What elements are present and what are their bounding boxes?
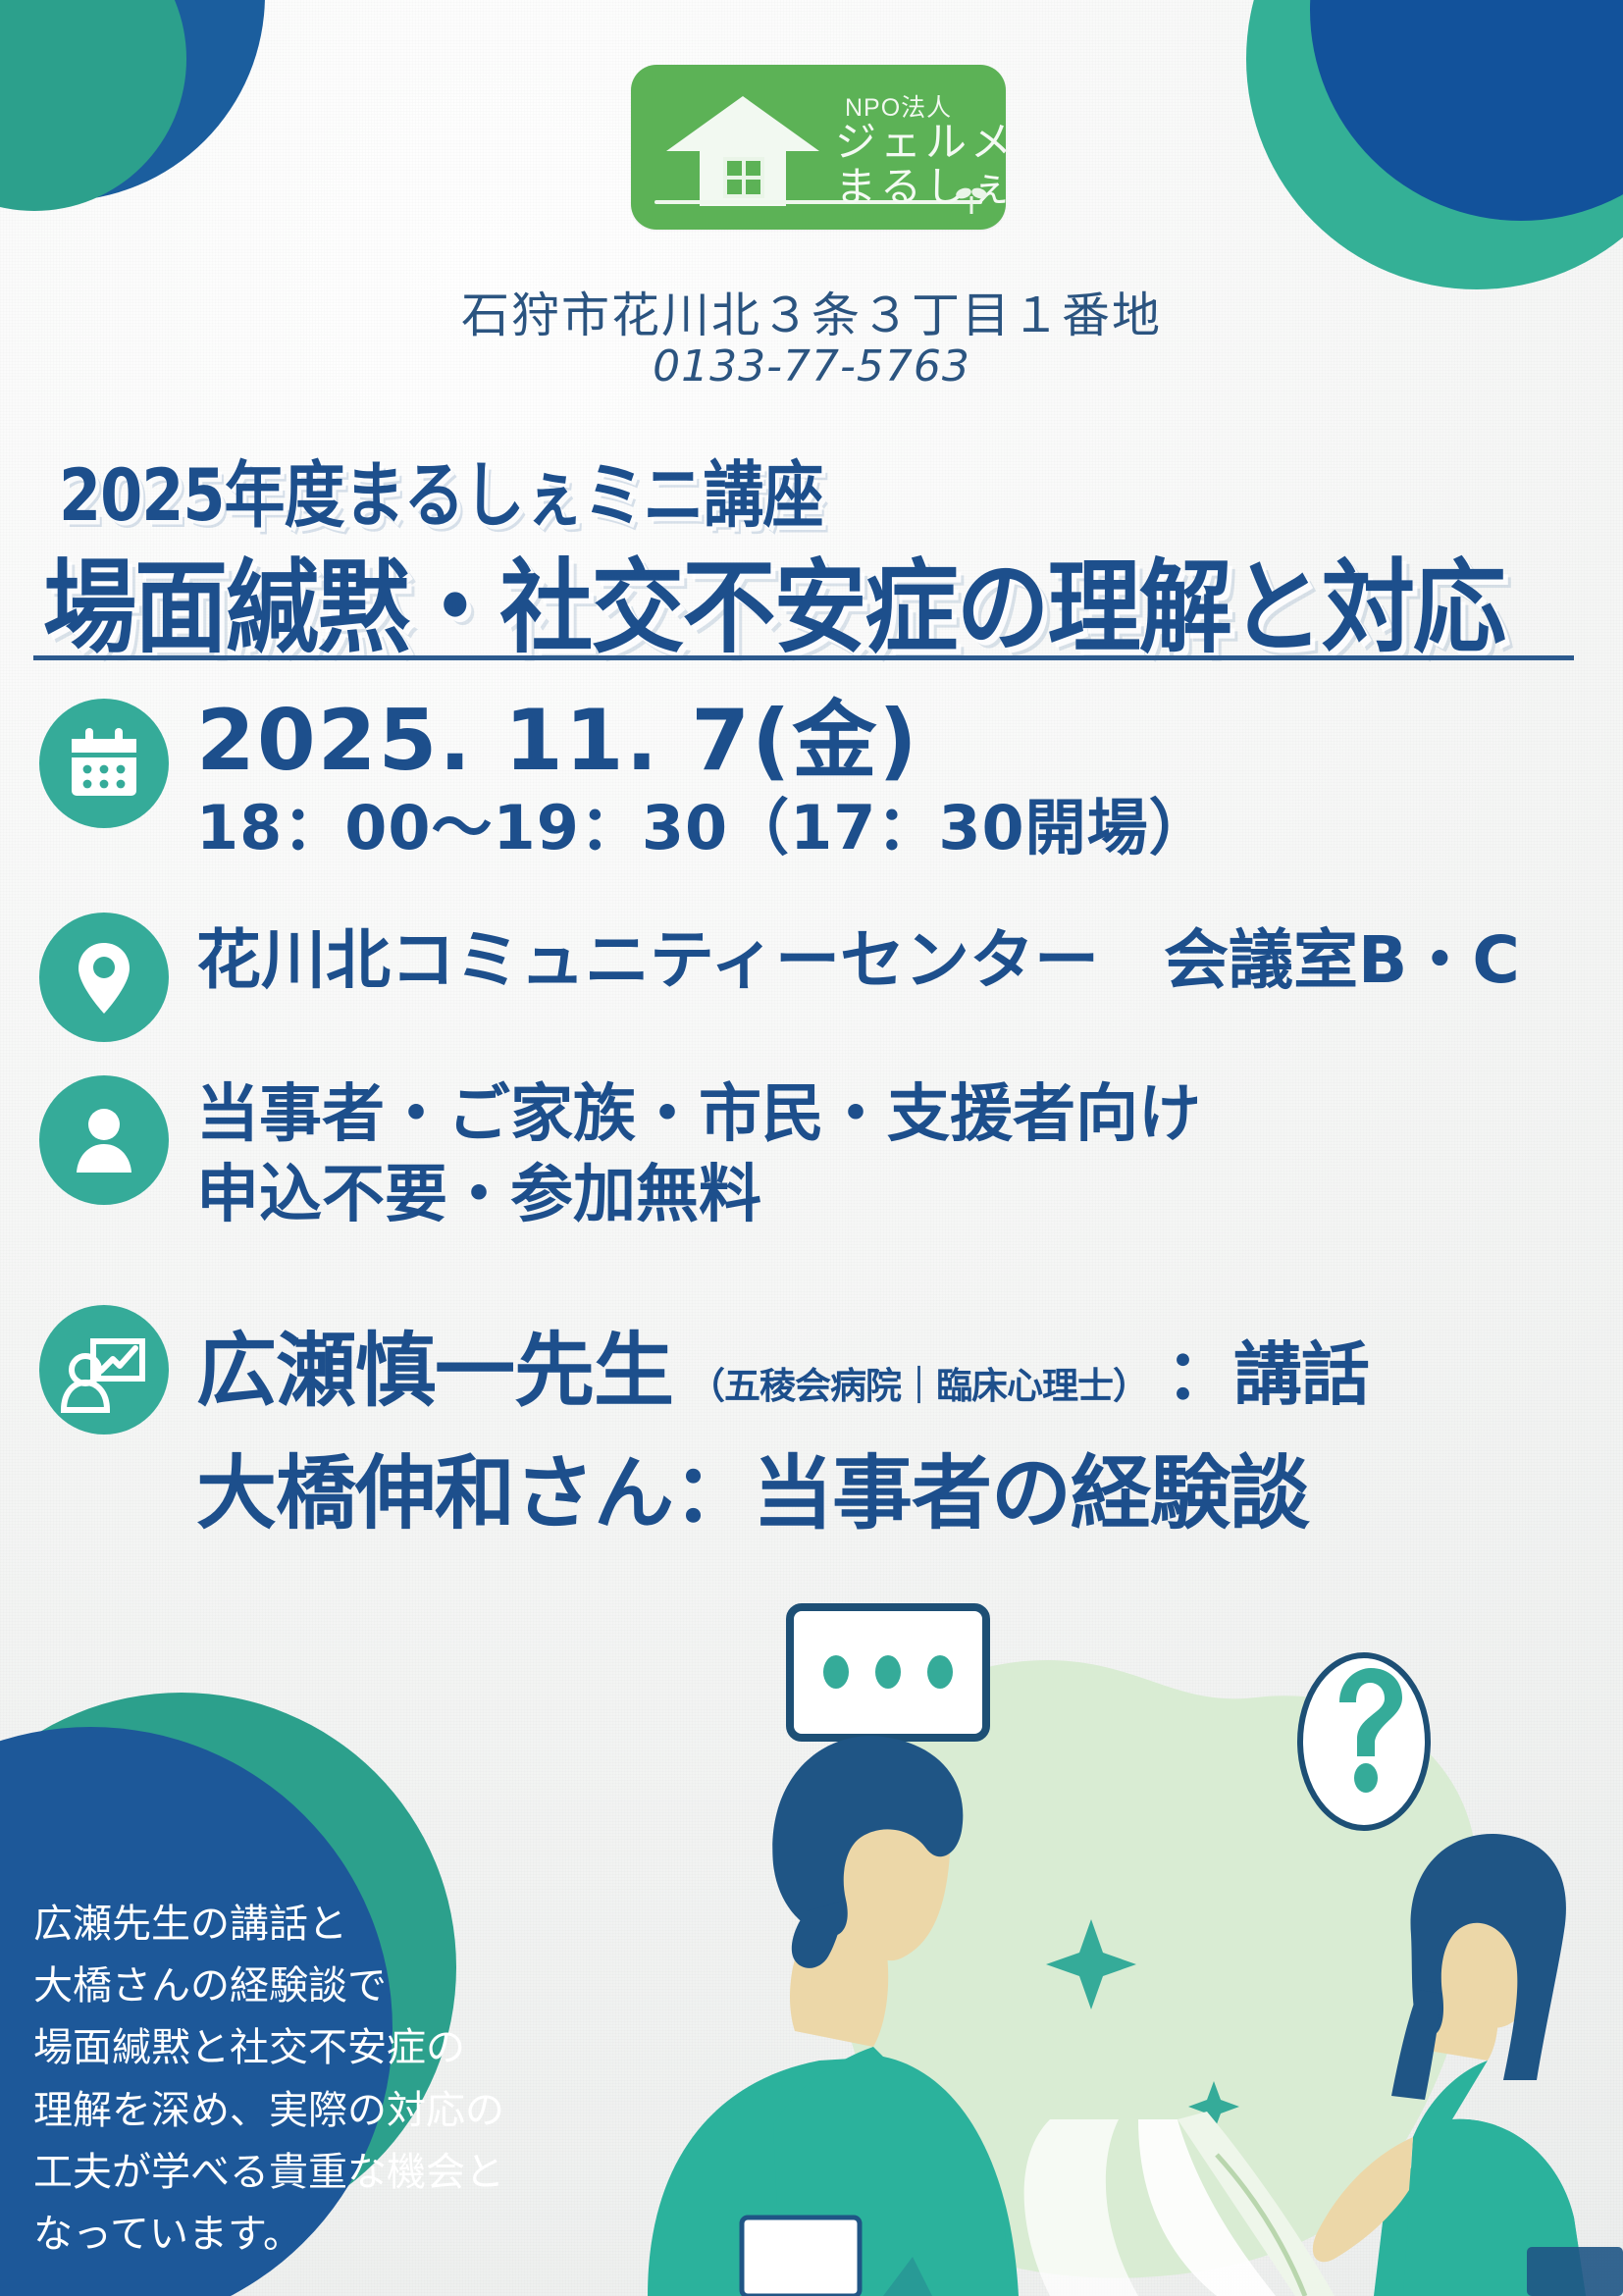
page-title: 場面緘黙・社交不安症の理解と対応 — [43, 525, 1504, 672]
organization-logo: NPO法人 ジェルメ まるしぇ — [631, 65, 1006, 230]
speaker-line2: 大橋伸和さん：当事者の経験談 — [196, 1428, 1369, 1544]
event-audience-text: 当事者・ご家族・市民・支援者向け 申込不要・参加無料 — [196, 1075, 1201, 1236]
event-audience-row: 当事者・ご家族・市民・支援者向け 申込不要・参加無料 — [39, 1075, 1201, 1236]
map-pin-icon-badge — [39, 913, 169, 1042]
event-speaker-row: 広瀬慎一先生 （五稜会病院｜臨床心理士） ：講話 大橋伸和さん：当事者の経験談 — [39, 1305, 1369, 1544]
audience-line2: 申込不要・参加無料 — [196, 1156, 1201, 1236]
event-place-text: 花川北コミュニティーセンター 会議室B・C — [196, 913, 1520, 1002]
map-pin-icon — [64, 937, 144, 1018]
description-line: 場面緘黙と社交不安症の — [33, 2017, 544, 2079]
speaker-affiliation: （五稜会病院｜臨床心理士） — [689, 1356, 1148, 1409]
person-icon-badge — [39, 1075, 169, 1205]
bag — [1527, 2247, 1623, 2296]
sprout-icon — [955, 183, 988, 216]
logo-name-line1: ジェルメ — [835, 122, 1006, 163]
event-date-row: 2025. 11. 7(金) 18：00〜19：30（17：30開場） — [39, 699, 1211, 867]
description-line: 大橋さんの経験談で — [33, 1956, 544, 2017]
event-time-line: 18：00〜19：30（17：30開場） — [196, 789, 1211, 868]
two-people-talking-illustration — [589, 1570, 1623, 2296]
organization-phone: 0133-77-5763 — [0, 341, 1623, 391]
presentation-icon-badge — [39, 1305, 169, 1435]
description-line: なっています。 — [33, 2204, 544, 2266]
event-description: 広瀬先生の講話と 大橋さんの経験談で 場面緘黙と社交不安症の 理解を深め、実際の… — [33, 1894, 544, 2266]
bubble-dot-1 — [823, 1655, 849, 1689]
audience-line1: 当事者・ご家族・市民・支援者向け — [196, 1075, 1201, 1156]
bubble-dot-2 — [875, 1655, 901, 1689]
calendar-icon-badge — [39, 699, 169, 828]
question-bubble — [1300, 1655, 1428, 1828]
description-line: 理解を深め、実際の対応の — [33, 2080, 544, 2142]
description-line: 広瀬先生の講話と — [33, 1894, 544, 1956]
poster-root: NPO法人 ジェルメ まるしぇ 石狩市花川北３条３丁目１番地 0133-77-5… — [0, 0, 1623, 2296]
headline-divider — [33, 655, 1574, 660]
person-icon — [64, 1100, 144, 1180]
calendar-icon — [64, 723, 144, 804]
event-date-text: 2025. 11. 7(金) 18：00〜19：30（17：30開場） — [196, 699, 1211, 867]
logo-card: NPO法人 ジェルメ まるしぇ — [631, 65, 1006, 230]
event-speaker-text: 広瀬慎一先生 （五稜会病院｜臨床心理士） ：講話 大橋伸和さん：当事者の経験談 — [196, 1305, 1369, 1544]
speaker-role: ：講話 — [1166, 1320, 1369, 1419]
house-icon — [664, 90, 821, 208]
decor-circle-top-left-teal — [0, 0, 186, 211]
event-date-line1: 2025. 11. 7(金) — [196, 699, 1211, 785]
presentation-icon — [60, 1326, 148, 1414]
speaker-line1: 広瀬慎一先生 （五稜会病院｜臨床心理士） ：講話 — [196, 1305, 1369, 1422]
organization-address: 石狩市花川北３条３丁目１番地 — [0, 277, 1623, 346]
event-venue: 花川北コミュニティーセンター 会議室B・C — [196, 913, 1520, 1002]
notebook — [742, 2218, 860, 2296]
event-place-row: 花川北コミュニティーセンター 会議室B・C — [39, 913, 1520, 1042]
bubble-dot-3 — [927, 1655, 953, 1689]
speech-bubble — [790, 1607, 986, 1738]
description-line: 工夫が学べる貴重な機会と — [33, 2142, 544, 2204]
speaker-name: 広瀬慎一先生 — [196, 1305, 673, 1422]
